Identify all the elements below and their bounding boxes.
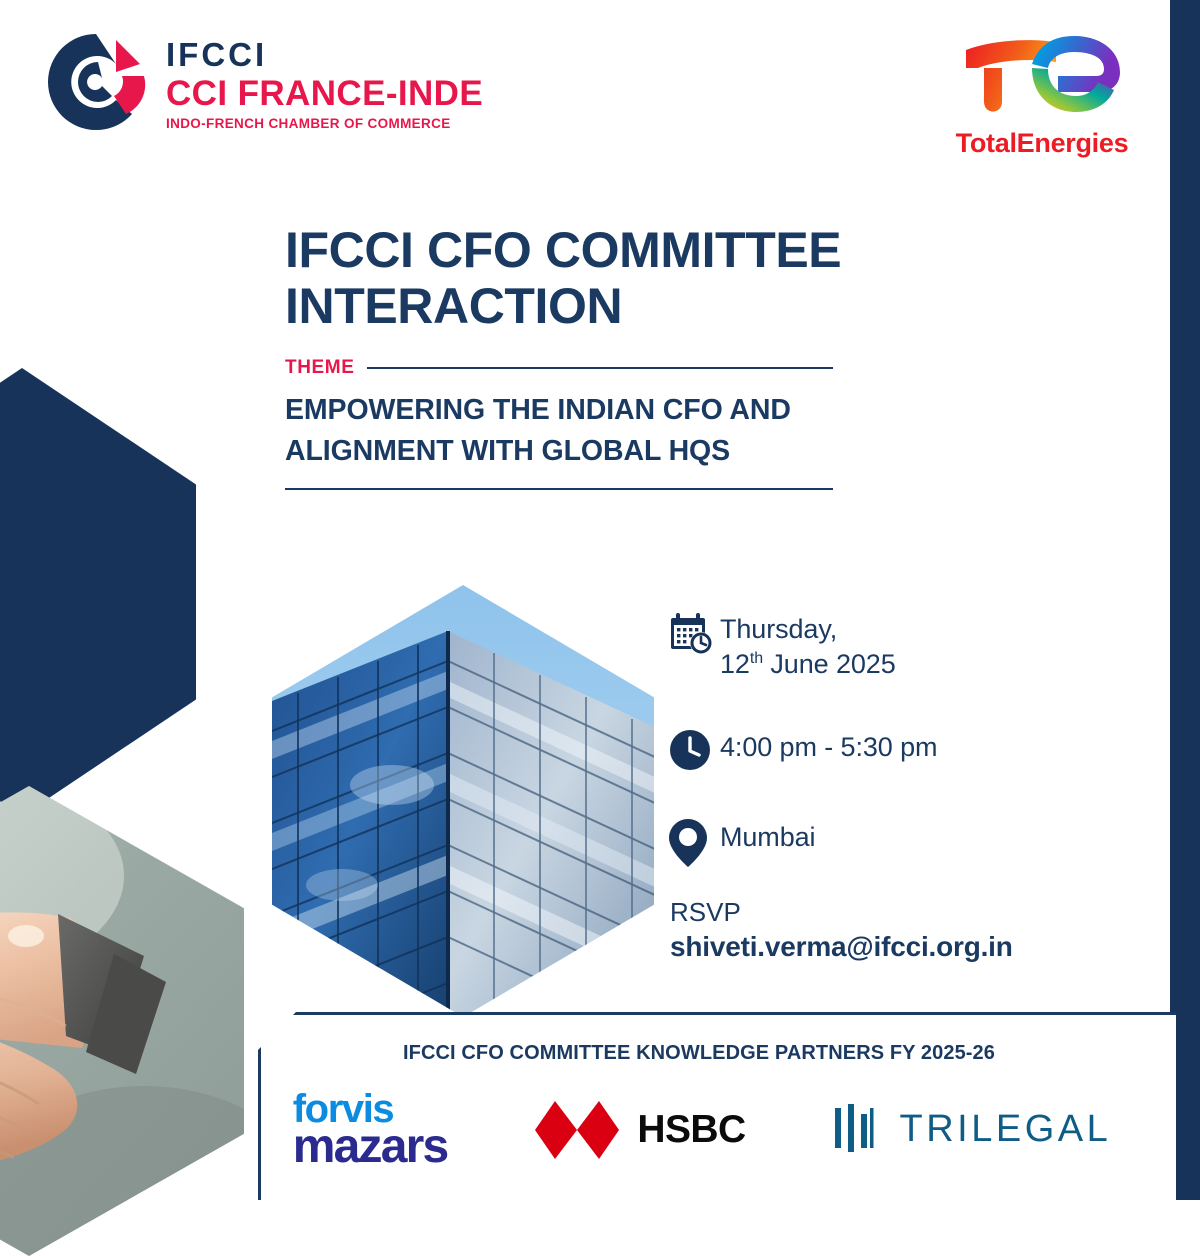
totalenergies-te-mark-icon bbox=[952, 28, 1132, 124]
detail-date-suffix: th bbox=[750, 650, 763, 667]
page-title: IFCCI CFO COMMITTEE INTERACTION bbox=[285, 222, 985, 334]
hsbc-hexagon-icon bbox=[533, 1099, 621, 1161]
partner-logos: forvis mazars HSBC TRILEGAL bbox=[258, 1092, 1146, 1168]
forvis-mazars-logo: forvis mazars bbox=[293, 1092, 448, 1168]
footer-title: IFCCI CFO COMMITTEE KNOWLEDGE PARTNERS F… bbox=[258, 1042, 1140, 1065]
detail-row-location: Mumbai bbox=[668, 818, 1088, 868]
rsvp-block: RSVP shiveti.verma@ifcci.org.in bbox=[670, 896, 1013, 963]
footer: IFCCI CFO COMMITTEE KNOWLEDGE PARTNERS F… bbox=[258, 1012, 1176, 1200]
hsbc-wordmark: HSBC bbox=[637, 1108, 745, 1152]
rsvp-email[interactable]: shiveti.verma@ifcci.org.in bbox=[670, 931, 1013, 963]
theme-header-row: THEME bbox=[285, 357, 833, 379]
detail-date-text: Thursday, 12th June 2025 bbox=[720, 610, 896, 682]
ifcci-logo-line3: INDO-FRENCH CHAMBER OF COMMERCE bbox=[166, 117, 483, 131]
detail-location-text: Mumbai bbox=[720, 818, 815, 855]
trilegal-bars-icon bbox=[832, 1104, 880, 1156]
theme-divider-top bbox=[367, 367, 834, 369]
detail-row-time: 4:00 pm - 5:30 pm bbox=[668, 728, 1088, 772]
rsvp-label: RSVP bbox=[670, 896, 1013, 929]
ifcci-logo: IFCCI CCI FRANCE-INDE INDO-FRENCH CHAMBE… bbox=[40, 26, 483, 138]
trilegal-logo: TRILEGAL bbox=[832, 1104, 1112, 1156]
hsbc-logo: HSBC bbox=[533, 1099, 745, 1161]
ifcci-logo-line2: CCI FRANCE-INDE bbox=[166, 76, 483, 111]
totalenergies-wordmark: TotalEnergies bbox=[956, 128, 1129, 159]
calendar-clock-icon bbox=[668, 610, 720, 658]
detail-row-date: Thursday, 12th June 2025 bbox=[668, 610, 1088, 682]
mazars-wordmark: mazars bbox=[293, 1126, 448, 1167]
theme-divider-bottom bbox=[285, 488, 833, 490]
event-details: Thursday, 12th June 2025 4:00 pm - 5:30 … bbox=[668, 610, 1088, 914]
ifcci-circle-mark-icon bbox=[40, 26, 152, 138]
map-pin-icon bbox=[668, 818, 720, 868]
totalenergies-logo: TotalEnergies bbox=[952, 28, 1132, 159]
hexagon-navy-decoration bbox=[0, 368, 196, 816]
detail-date-day: 12 bbox=[720, 649, 750, 679]
handshake-photo bbox=[0, 786, 244, 1256]
theme-label: THEME bbox=[285, 357, 355, 379]
event-poster: IFCCI CCI FRANCE-INDE INDO-FRENCH CHAMBE… bbox=[0, 0, 1200, 1200]
detail-time-text: 4:00 pm - 5:30 pm bbox=[720, 728, 937, 765]
detail-date-rest: June 2025 bbox=[763, 649, 896, 679]
ifcci-logo-line1: IFCCI bbox=[166, 38, 483, 71]
glass-building-photo bbox=[272, 585, 654, 1017]
clock-icon bbox=[668, 728, 720, 772]
theme-text: EMPOWERING THE INDIAN CFO AND ALIGNMENT … bbox=[285, 390, 845, 473]
trilegal-wordmark: TRILEGAL bbox=[900, 1108, 1112, 1151]
detail-date-line1: Thursday, bbox=[720, 614, 837, 644]
